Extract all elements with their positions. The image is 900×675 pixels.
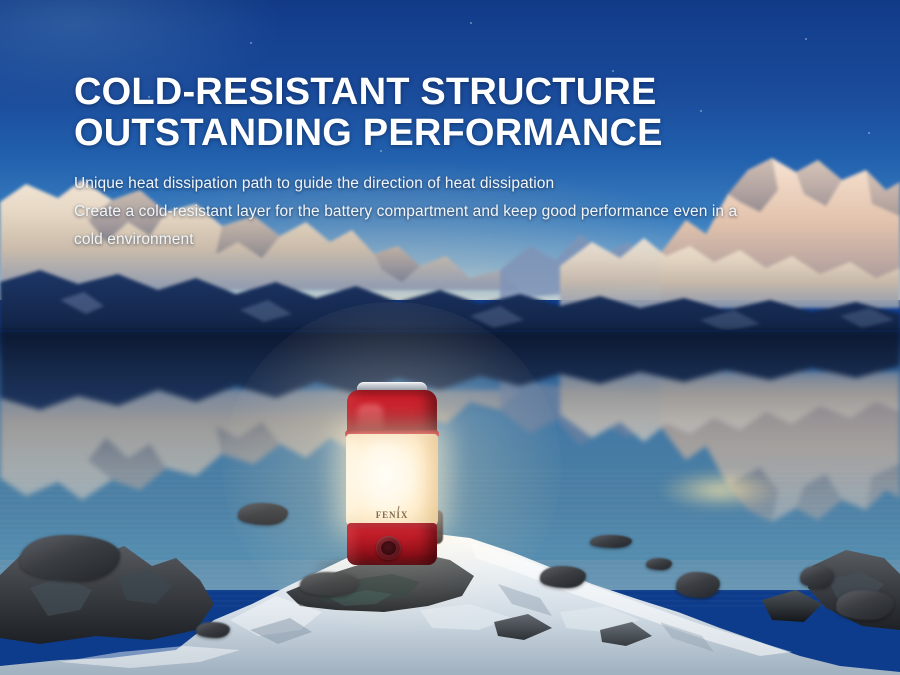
subcopy-text: Unique heat dissipation path to guide th… xyxy=(74,170,864,254)
subcopy-line-1: Unique heat dissipation path to guide th… xyxy=(74,170,864,198)
background-rock xyxy=(20,535,120,581)
background-rock xyxy=(238,503,288,525)
background-rock xyxy=(800,566,834,588)
marketing-copy: COLD-RESISTANT STRUCTURE OUTSTANDING PER… xyxy=(74,72,864,254)
page-title: COLD-RESISTANT STRUCTURE OUTSTANDING PER… xyxy=(74,72,864,154)
power-button-inner xyxy=(381,541,396,555)
foreground-snowy-rocks xyxy=(0,480,900,675)
background-rock xyxy=(540,566,586,588)
product-banner: FENIX COLD-RESISTANT STRUCTURE OUTSTANDI… xyxy=(0,0,900,675)
headline-line-2: OUTSTANDING PERFORMANCE xyxy=(74,113,864,154)
headline-line-1: COLD-RESISTANT STRUCTURE xyxy=(74,71,657,113)
background-rock xyxy=(676,572,720,598)
subcopy-line-3: cold environment xyxy=(74,226,864,254)
lantern-light-diffuser: FENIX xyxy=(346,434,438,526)
brand-logo-text: FENIX xyxy=(346,510,438,520)
background-rock xyxy=(646,558,672,570)
background-rock xyxy=(300,572,358,596)
background-rock xyxy=(836,590,894,620)
background-rock xyxy=(590,535,632,548)
power-button[interactable] xyxy=(376,536,401,560)
subcopy-line-2: Create a cold-resistant layer for the ba… xyxy=(74,198,864,226)
fenix-camping-lantern: FENIX xyxy=(343,382,441,568)
background-rock xyxy=(196,622,230,638)
